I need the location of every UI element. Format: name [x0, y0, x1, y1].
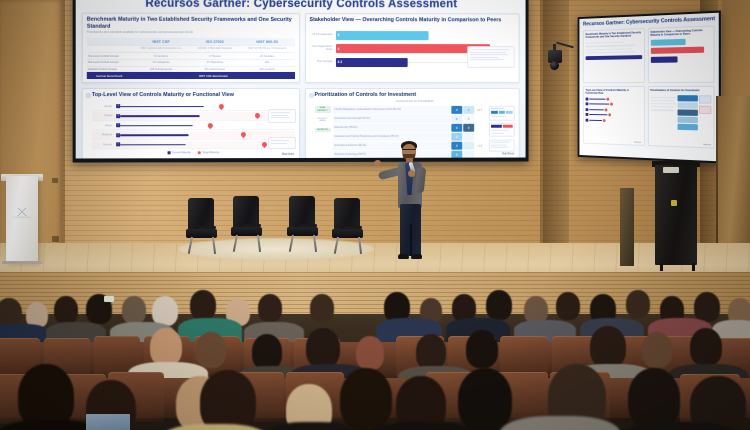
legend-pin-icon: [198, 151, 201, 154]
matrix-cell: 3: [451, 106, 462, 114]
side-monitor-screen: Recursos Gartner: Cybersecurity Controls…: [578, 11, 721, 164]
dotplot-label: Detect: [92, 124, 114, 127]
insight-note: [267, 109, 295, 123]
bar-value: 3.2: [335, 58, 407, 67]
side-card-prioritization: Prioritization of Controls for Investmen…: [647, 85, 714, 148]
dotplot-score: 2: [116, 133, 120, 137]
podium-base: [2, 261, 42, 264]
dotplot-label: Respond: [92, 134, 114, 137]
gartner-brand-mark: Gartner: [634, 142, 642, 144]
av-rack-label: [663, 167, 679, 173]
bar-track: 3: [335, 31, 514, 40]
wall-vent: [52, 236, 59, 242]
legend-swatch: [491, 111, 498, 114]
dotplot-row: Identify 3: [92, 103, 295, 112]
matrix-categories: HIGH PRIORITY PRIORITY AREA MONITOR: [314, 106, 330, 158]
matrix-cell: 3: [451, 124, 462, 132]
matrix-score: +0.7: [474, 109, 485, 112]
matrix-cell: 2: [451, 133, 462, 141]
matrix-cell: 3: [451, 142, 462, 150]
side-card-benchmark: Benchmark Maturity in Two Established Se…: [583, 28, 645, 83]
matrix-cell: 3: [463, 115, 474, 123]
legend-swatch: [506, 111, 513, 114]
dotplot-score: 3: [116, 114, 120, 118]
card-heading: Top-Level View of Controls Maturity or F…: [92, 92, 295, 99]
target-pin-icon: [219, 104, 224, 110]
table-row-label: Mid-Level Control Groups: [87, 59, 132, 66]
table-cell: 20 Families: [240, 53, 295, 60]
dotplot-score: 3: [116, 124, 120, 128]
legend-label: Current Maturity: [172, 151, 191, 154]
table-cell: N/A: [240, 59, 295, 66]
table-row-label: Top-Level Control Groups: [87, 52, 132, 59]
bar-label: All Competencies: [309, 34, 335, 37]
institution-mark-icon: [14, 208, 30, 216]
matrix-row-label: Identity Management, Authentication and …: [332, 106, 450, 114]
av-equipment-rack: [655, 165, 697, 265]
bullet-icon: [308, 93, 313, 98]
matrix-cell: [463, 142, 474, 150]
matrix-cell: [463, 151, 474, 159]
insight-note: [467, 46, 514, 68]
table-col-header: NIST CSF: [132, 38, 190, 46]
side-card-heading: Benchmark Maturity in Two Established Se…: [586, 31, 642, 39]
matrix-cell: 2: [451, 115, 462, 123]
side-card-stakeholder: Stakeholder View — Overarching Controls …: [647, 25, 714, 82]
card-benchmark-maturity: Benchmark Maturity in Two Established Se…: [82, 13, 300, 84]
target-pin-icon: [255, 113, 260, 119]
presenter-arm: [415, 167, 427, 194]
matrix-column-header: Control Areas for Prioritization: [314, 100, 514, 104]
highlight-label: Gartner Benchmark: [87, 72, 132, 79]
main-projection-screen: Recursos Gartner: Cybersecurity Controls…: [73, 0, 529, 163]
presenter-mic-hand: [408, 170, 415, 177]
glasses-icon: [402, 149, 416, 152]
dotplot: Identify 3 Protect 3: [92, 103, 295, 150]
presenter-hand: [373, 159, 381, 167]
dotplot-label: Recover: [92, 143, 114, 146]
table-cell: 5 Functions: [132, 52, 190, 59]
side-card-heading: Top-Level View of Controls Maturity or F…: [586, 88, 642, 94]
bar-value: 3: [335, 31, 428, 40]
dotplot-row: Detect 3: [92, 122, 295, 131]
card-top-level-view: Top-Level View of Controls Maturity or F…: [82, 88, 300, 158]
bar-label: Your Organization Score: [309, 46, 335, 52]
dotplot-score: 2: [116, 143, 120, 147]
table-cell: 23 Categories: [132, 59, 190, 66]
presenter-shoe: [398, 254, 409, 259]
side-card-toplevel: Top-Level View of Controls Maturity or F…: [583, 86, 645, 146]
target-pin-icon: [241, 132, 246, 138]
av-rack-leg: [660, 263, 663, 271]
bullet-icon: [86, 93, 91, 98]
matrix-row-label: Governance and Oversight (ID.GV): [332, 115, 450, 123]
legend-label: Target Maturity: [202, 151, 219, 154]
side-card-heading: Prioritization of Controls for Investmen…: [650, 89, 711, 92]
target-pin-icon: [262, 142, 267, 148]
presenter-leg-split: [410, 224, 412, 256]
target-pin-icon: [208, 123, 213, 129]
gartner-brand-mark: Gartner: [703, 144, 711, 146]
side-slide-content: Recursos Gartner: Cybersecurity Controls…: [579, 13, 718, 162]
matrix-row-label: Data Security (PR.DS): [332, 124, 450, 132]
category-chip: HIGH PRIORITY: [314, 106, 330, 113]
gartner-brand-mark: Gartner: [282, 152, 295, 156]
dotplot-row: Respond 2: [92, 131, 295, 140]
legend-box: Maturity Scale: [489, 106, 515, 121]
legend-swatch: [499, 111, 506, 114]
card-heading: Stakeholder View — Overarching Controls …: [309, 17, 514, 24]
card-heading: Prioritization of Controls for Investmen…: [314, 92, 514, 99]
audience-tablet: [86, 414, 130, 430]
camera-lens-icon: [550, 61, 559, 70]
table-cell: 37 Objectives: [190, 59, 239, 66]
legend-swatch: [502, 125, 512, 128]
presenter-shoe: [411, 254, 422, 259]
matrix-score: +1.0: [474, 144, 485, 147]
wall-trim-panel: [620, 188, 634, 266]
legend-swatch: [491, 125, 501, 128]
audience-area: [0, 272, 750, 430]
table-corner: [87, 38, 132, 46]
matrix-row: Identity Management, Authentication and …: [332, 106, 485, 114]
card-heading: Benchmark Maturity in Two Established Se…: [87, 17, 295, 30]
card-subheading: Frameworks and standards available for c…: [87, 31, 295, 35]
slide-title: Recursos Gartner: Cybersecurity Controls…: [82, 0, 520, 10]
dotplot-label: Protect: [92, 115, 114, 118]
matrix-cell: 2: [451, 151, 462, 159]
presenter: [380, 140, 440, 262]
card-stakeholder-view: Stakeholder View — Overarching Controls …: [304, 13, 519, 83]
legend-box: [489, 123, 515, 137]
dotplot-row: Recover 2: [92, 141, 295, 150]
podium-logo: UNIVERSIDAD: [10, 208, 34, 224]
wall-vent: [52, 178, 58, 183]
av-rack-indicator-icon: [671, 200, 677, 206]
dotplot-row: Protect 3: [92, 112, 295, 121]
matrix-cell: 3: [463, 124, 474, 132]
legend-title: Maturity Scale: [491, 108, 513, 110]
gartner-brand-mark: Gartner: [502, 152, 515, 156]
framework-table: NIST CSF ISO 27002 NIST 800-53 NIST Cybe…: [87, 38, 295, 79]
table-cell: 4 Themes: [190, 53, 239, 60]
auditorium-scene: Recursos Gartner: Cybersecurity Controls…: [0, 0, 750, 430]
wall-seam: [62, 0, 65, 272]
table-col-header: ISO 27002: [190, 38, 239, 46]
category-chip: PRIORITY AREA: [314, 117, 330, 124]
audience-phone: [104, 296, 114, 302]
insight-note: [267, 137, 295, 149]
matrix-legend-panel: Maturity Scale: [487, 106, 515, 158]
podium-logo-label: UNIVERSIDAD: [10, 217, 34, 219]
table-col-header: NIST 800-53: [240, 38, 295, 46]
highlight-value: NIST CSF Benchmark: [132, 72, 295, 79]
legend-box: [489, 140, 515, 152]
matrix-cell: 1: [463, 106, 474, 114]
table-highlight-row: Gartner Benchmark NIST CSF Benchmark: [87, 72, 295, 79]
bar-row: All Competencies 3: [309, 31, 514, 40]
matrix-cell: [463, 133, 474, 141]
matrix-row: Data Security (PR.DS) 3 3: [332, 124, 485, 132]
dotplot-label: Identify: [92, 105, 114, 108]
category-chip: MONITOR: [314, 128, 330, 132]
matrix-row: Governance and Oversight (ID.GV) 2 3: [332, 115, 485, 123]
dotplot-score: 3: [116, 105, 120, 109]
slide-content: Recursos Gartner: Cybersecurity Controls…: [76, 0, 526, 158]
side-card-heading: Stakeholder View — Overarching Controls …: [650, 29, 711, 37]
av-rack-leg: [692, 263, 695, 271]
stage-rug: [178, 238, 374, 260]
legend-square-icon: [167, 151, 170, 154]
dotplot-legend: Current Maturity Target Maturity: [92, 151, 295, 154]
bar-label: Peer Average: [309, 61, 335, 64]
